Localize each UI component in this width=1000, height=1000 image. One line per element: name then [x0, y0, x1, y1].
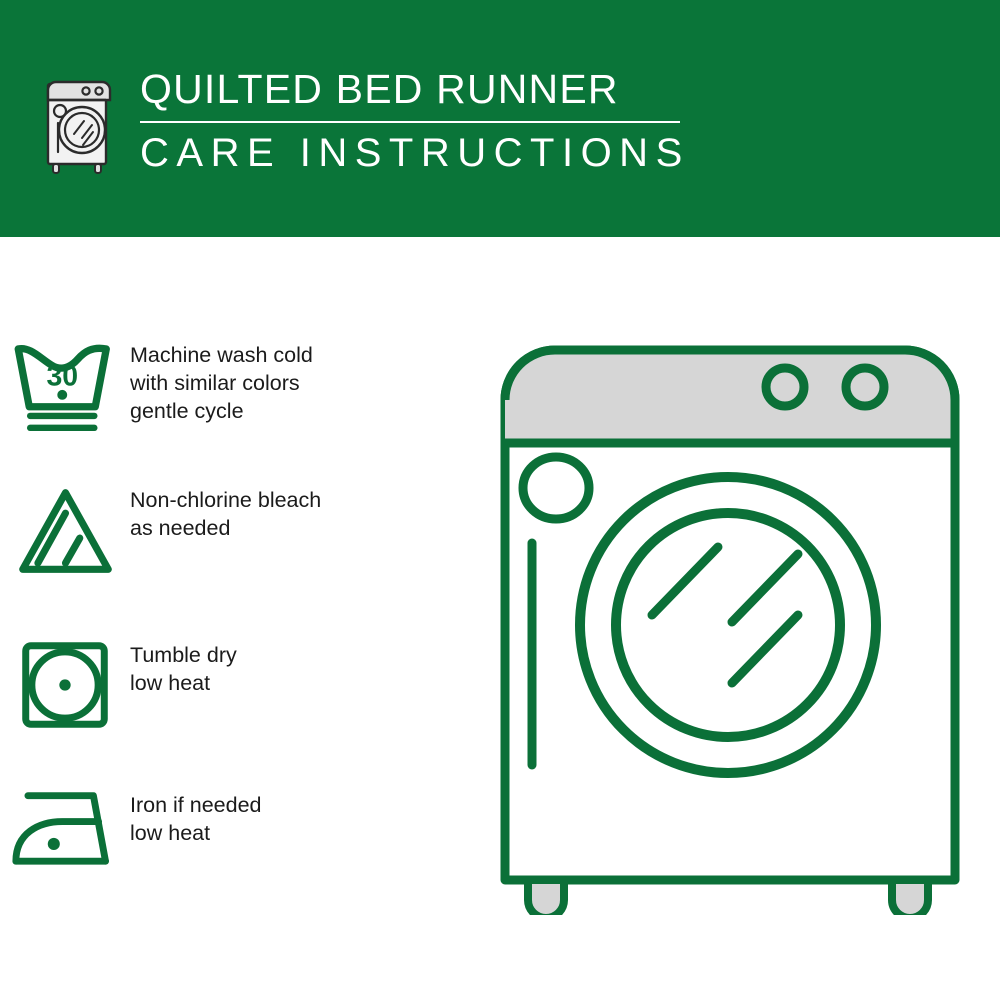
care-instruction-list: 30 Machine wash cold with similar colors…: [0, 237, 470, 1000]
wash-temperature-label: 30: [46, 361, 78, 393]
care-row-machine-wash: 30 Machine wash cold with similar colors…: [0, 337, 430, 438]
iron-low-heat-icon: [0, 787, 130, 869]
care-instructions-page: QUILTED BED RUNNER CARE INSTRUCTIONS 30: [0, 0, 1000, 1000]
care-text-tumble-dry: Tumble dry low heat: [130, 637, 237, 697]
wash-tub-30-gentle-icon: 30: [0, 337, 130, 438]
care-line: Non-chlorine bleach: [130, 486, 321, 514]
care-row-bleach: Non-chlorine bleach as needed: [0, 482, 430, 580]
header-text-block: QUILTED BED RUNNER CARE INSTRUCTIONS: [140, 64, 840, 177]
care-line: as needed: [130, 514, 321, 542]
front-load-washing-machine-illustration: [480, 325, 980, 915]
care-line: Tumble dry: [130, 641, 237, 669]
machine-leg-right: [892, 880, 928, 915]
machine-control-panel: [505, 350, 955, 443]
machine-leg-left: [528, 880, 564, 915]
care-line: low heat: [130, 819, 262, 847]
care-text-bleach: Non-chlorine bleach as needed: [130, 482, 321, 542]
page-subtitle: CARE INSTRUCTIONS: [140, 129, 840, 177]
care-text-iron: Iron if needed low heat: [130, 787, 262, 847]
care-text-machine-wash: Machine wash cold with similar colors ge…: [130, 337, 313, 425]
page-title: QUILTED BED RUNNER: [140, 64, 840, 114]
care-row-tumble-dry: Tumble dry low heat: [0, 637, 430, 733]
header-banner: QUILTED BED RUNNER CARE INSTRUCTIONS: [0, 0, 1000, 237]
non-chlorine-bleach-triangle-icon: [0, 482, 130, 580]
care-line: gentle cycle: [130, 397, 313, 425]
care-line: Iron if needed: [130, 791, 262, 819]
washing-machine-icon: [44, 68, 116, 176]
care-line: low heat: [130, 669, 237, 697]
care-line: Machine wash cold: [130, 341, 313, 369]
care-line: with similar colors: [130, 369, 313, 397]
title-divider: [140, 121, 680, 123]
tumble-dry-low-heat-icon: [0, 637, 130, 733]
care-row-iron: Iron if needed low heat: [0, 787, 430, 869]
